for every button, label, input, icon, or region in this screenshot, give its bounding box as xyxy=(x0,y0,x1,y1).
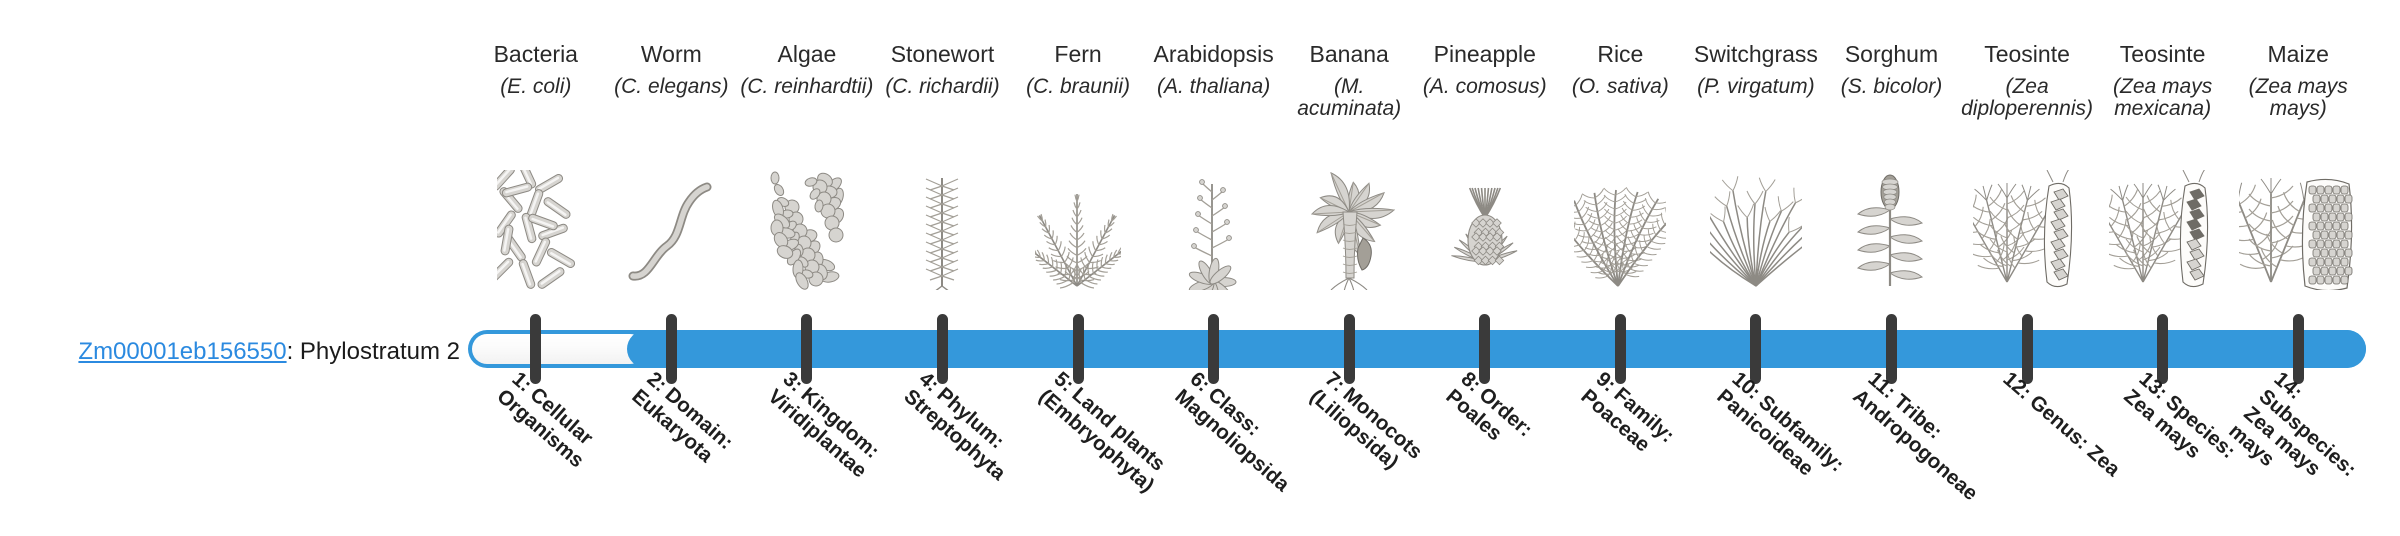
pineapple-icon xyxy=(1417,168,1553,290)
species-scientific-name: (C. reinhardtii) xyxy=(739,76,875,98)
rank-label-5: 5: Land plants (Embryophyta) xyxy=(1034,368,1177,501)
rank-label-2: 2: Domain: Eukaryota xyxy=(627,368,770,501)
arabidopsis-icon xyxy=(1146,168,1282,290)
teosinte-mex-icon xyxy=(2095,168,2231,290)
gene-phylostratum-label: Zm00001eb156550: Phylostratum 2 xyxy=(40,340,460,364)
species-common-name: Teosinte xyxy=(1959,42,2095,66)
species-scientific-name: (A. thaliana) xyxy=(1146,76,1282,98)
species-common-name: Sorghum xyxy=(1824,42,1960,66)
species-scientific-name: (A. comosus) xyxy=(1417,76,1553,98)
species-scientific-name: (Zea diploperennis) xyxy=(1959,76,2095,121)
species-common-name: Maize xyxy=(2230,42,2366,66)
species-scientific-name: (Zea mays mays) xyxy=(2230,76,2366,121)
rank-label-4: 4: Phylum: Streptophyta xyxy=(898,368,1041,501)
species-column-teosinte: Teosinte(Zea mays mexicana) xyxy=(2095,0,2231,300)
taxonomic-rank-labels: 1: Cellular Organisms2: Domain: Eukaryot… xyxy=(468,368,2366,520)
species-common-name: Rice xyxy=(1553,42,1689,66)
bacteria-icon xyxy=(468,168,604,290)
rank-label-7: 7: Monocots (Liliopsida) xyxy=(1305,368,1448,501)
species-scientific-name: (S. bicolor) xyxy=(1824,76,1960,98)
species-scientific-name: (C. richardii) xyxy=(875,76,1011,98)
species-common-name: Switchgrass xyxy=(1688,42,1824,66)
gene-id-link[interactable]: Zm00001eb156550 xyxy=(78,338,286,365)
species-scientific-name: (E. coli) xyxy=(468,76,604,98)
species-common-name: Worm xyxy=(604,42,740,66)
fern-icon xyxy=(1010,168,1146,290)
species-common-name: Teosinte xyxy=(2095,42,2231,66)
rank-label-10: 10: Subfamily: Panicoideae xyxy=(1712,368,1855,501)
switchgrass-icon xyxy=(1688,168,1824,290)
species-column-pineapple: Pineapple(A. comosus) xyxy=(1417,0,1553,300)
species-common-name: Banana xyxy=(1281,42,1417,66)
species-column-stonewort: Stonewort(C. richardii) xyxy=(875,0,1011,300)
banana-icon xyxy=(1281,168,1417,290)
species-column-rice: Rice(O. sativa) xyxy=(1553,0,1689,300)
phylostratum-figure: Zm00001eb156550: Phylostratum 2 Bacteria… xyxy=(0,0,2400,520)
species-common-name: Pineapple xyxy=(1417,42,1553,66)
species-common-name: Fern xyxy=(1010,42,1146,66)
species-column-algae: Algae(C. reinhardtii) xyxy=(739,0,875,300)
species-scientific-name: (M. acuminata) xyxy=(1281,76,1417,121)
rank-label-12: 12: Genus: Zea xyxy=(1998,368,2126,484)
species-scientific-name: (O. sativa) xyxy=(1553,76,1689,98)
species-scientific-name: (C. braunii) xyxy=(1010,76,1146,98)
rice-icon xyxy=(1553,168,1689,290)
rank-label-14: 14: Subspecies: Zea mays mays xyxy=(2224,368,2397,536)
species-column-fern: Fern(C. braunii) xyxy=(1010,0,1146,300)
rank-label-11: 11: Tribe: Andropogoneae xyxy=(1847,368,1990,501)
stonewort-icon xyxy=(875,168,1011,290)
species-column-teosinte: Teosinte(Zea diploperennis) xyxy=(1959,0,2095,300)
rank-label-3: 3: Kingdom: Viridiplantae xyxy=(763,368,906,501)
rank-label-8: 8: Order: Poales xyxy=(1441,368,1584,501)
species-common-name: Arabidopsis xyxy=(1146,42,1282,66)
rank-label-1: 1: Cellular Organisms xyxy=(492,368,635,501)
species-scientific-name: (P. virgatum) xyxy=(1688,76,1824,98)
species-column-switchgrass: Switchgrass(P. virgatum) xyxy=(1688,0,1824,300)
species-column-bacteria: Bacteria(E. coli) xyxy=(468,0,604,300)
species-column-sorghum: Sorghum(S. bicolor) xyxy=(1824,0,1960,300)
progress-unfilled-region xyxy=(472,334,645,364)
phylostratum-progress-bar[interactable] xyxy=(468,330,2366,368)
rank-label-9: 9: Family: Poaceae xyxy=(1576,368,1719,501)
species-column-arabidopsis: Arabidopsis(A. thaliana) xyxy=(1146,0,1282,300)
species-common-name: Bacteria xyxy=(468,42,604,66)
species-scientific-name: (C. elegans) xyxy=(604,76,740,98)
algae-icon xyxy=(739,168,875,290)
gene-label-separator: : xyxy=(287,338,300,365)
teosinte-diplo-icon xyxy=(1959,168,2095,290)
rank-label-6: 6: Class: Magnoliopsida xyxy=(1170,368,1313,501)
phylostratum-value-label: Phylostratum 2 xyxy=(300,338,460,365)
species-column-banana: Banana(M. acuminata) xyxy=(1281,0,1417,300)
species-common-name: Algae xyxy=(739,42,875,66)
species-scientific-name: (Zea mays mexicana) xyxy=(2095,76,2231,121)
species-column-worm: Worm(C. elegans) xyxy=(604,0,740,300)
maize-icon xyxy=(2230,168,2366,290)
species-common-name: Stonewort xyxy=(875,42,1011,66)
sorghum-icon xyxy=(1824,168,1960,290)
species-column-maize: Maize(Zea mays mays) xyxy=(2230,0,2366,300)
progress-filled-region xyxy=(627,330,2366,368)
worm-icon xyxy=(604,168,740,290)
